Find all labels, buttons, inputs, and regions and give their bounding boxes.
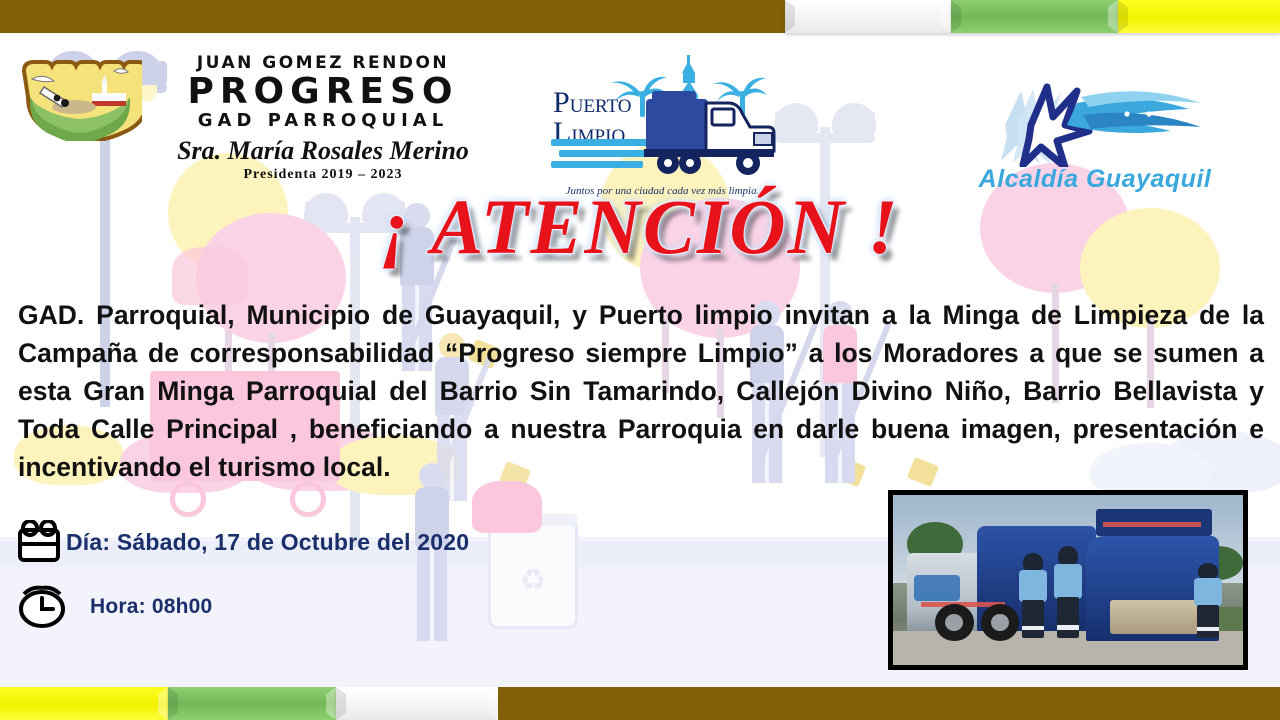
gad-president-term: Presidenta 2019 – 2023 bbox=[158, 167, 488, 183]
ribbon-segment-green bbox=[168, 687, 336, 720]
page-title: ¡ ATENCIÓN ! bbox=[0, 186, 1280, 268]
cart-wheel bbox=[170, 481, 206, 517]
gad-president-name: Sra. María Rosales Merino bbox=[158, 135, 488, 167]
event-date-row: Día: Sábado, 17 de Octubre del 2020 bbox=[16, 520, 469, 564]
gad-parroquial-logo: JUAN GOMEZ RENDON PROGRESO GAD PARROQUIA… bbox=[18, 55, 488, 180]
progreso-coat-of-arms-icon bbox=[18, 57, 142, 141]
event-date-label: Día: Sábado, 17 de Octubre del 2020 bbox=[66, 529, 469, 556]
photo-worker bbox=[1054, 546, 1082, 638]
body-text: GAD. Parroquial, Municipio de Guayaquil,… bbox=[18, 296, 1264, 486]
photo-worker bbox=[1019, 553, 1047, 638]
calendar-icon bbox=[16, 520, 62, 564]
photo-truck-wheel bbox=[981, 604, 1020, 641]
body-paragraph: GAD. Parroquial, Municipio de Guayaquil,… bbox=[18, 296, 1264, 486]
top-ribbon-bar bbox=[0, 0, 1280, 33]
garbage-truck-photo bbox=[888, 490, 1248, 670]
ribbon-segment-brown bbox=[498, 687, 1280, 720]
photo-reflector-strip bbox=[1103, 522, 1201, 527]
ribbon-segment-yellow bbox=[1118, 0, 1280, 33]
ribbon-segment-green bbox=[951, 0, 1118, 33]
recycle-bin-icon: ♻ bbox=[488, 523, 578, 629]
trash-bag-icon bbox=[472, 481, 542, 533]
header-logos: JUAN GOMEZ RENDON PROGRESO GAD PARROQUIA… bbox=[0, 33, 1280, 178]
ribbon-segment-brown bbox=[0, 0, 785, 33]
gad-line-1: JUAN GOMEZ RENDON bbox=[158, 53, 488, 73]
event-time-row: Hora: 08h00 bbox=[16, 585, 212, 629]
photo-truck-logo bbox=[914, 575, 960, 602]
gad-logo-text: JUAN GOMEZ RENDON PROGRESO GAD PARROQUIA… bbox=[158, 53, 488, 183]
ribbon-segment-white bbox=[336, 687, 498, 720]
bottom-ribbon-bar bbox=[0, 687, 1280, 720]
gad-line-3: GAD PARROQUIAL bbox=[158, 110, 488, 131]
event-time-label: Hora: 08h00 bbox=[90, 595, 212, 619]
ribbon-segment-yellow bbox=[0, 687, 168, 720]
gad-line-2: PROGRESO bbox=[158, 73, 488, 110]
photo-truck-wheel bbox=[935, 604, 974, 641]
photo-worker bbox=[1194, 563, 1222, 638]
shooting-star-icon bbox=[965, 81, 1225, 167]
poster: ♻ bbox=[0, 0, 1280, 720]
cart-wheel bbox=[290, 481, 326, 517]
ribbon-segment-white bbox=[785, 0, 951, 33]
garbage-truck-icon bbox=[640, 87, 780, 183]
alcaldia-guayaquil-logo: Alcaldía Guayaquil bbox=[965, 81, 1225, 201]
alarm-clock-icon bbox=[16, 585, 74, 629]
